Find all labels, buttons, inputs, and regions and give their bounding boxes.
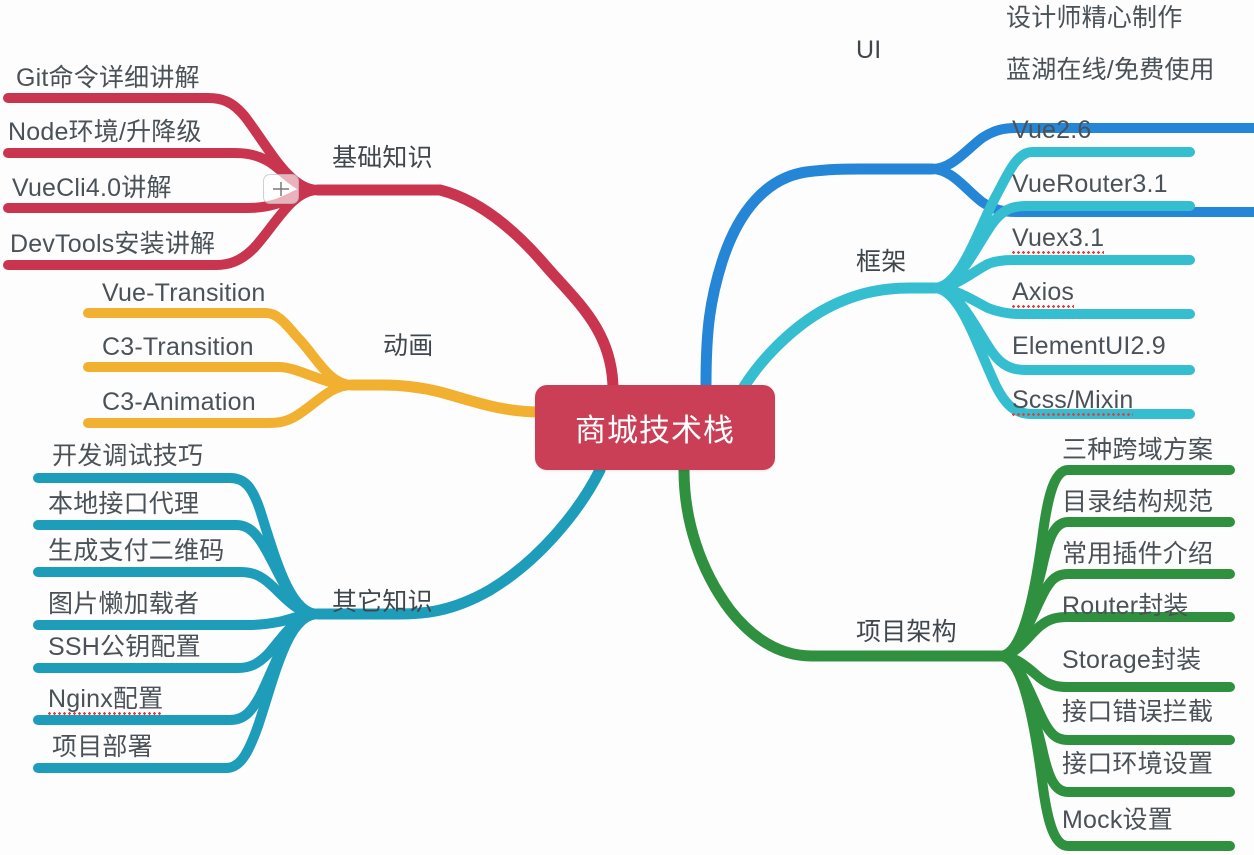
leaf-label-animation-2[interactable]: C3-Animation <box>102 390 256 415</box>
branch-label-basics[interactable]: 基础知识 <box>332 146 433 171</box>
leaf-label-other-0[interactable]: 开发调试技巧 <box>52 444 203 469</box>
leaf-label-architecture-3[interactable]: Router封装 <box>1062 594 1189 619</box>
leaf-label-framework-3[interactable]: Axios <box>1012 280 1074 308</box>
leaf-label-other-6[interactable]: 项目部署 <box>52 735 153 760</box>
leaf-label-architecture-1[interactable]: 目录结构规范 <box>1062 490 1213 515</box>
root-node-label: 商城技术栈 <box>575 405 735 450</box>
leaf-label-animation-1[interactable]: C3-Transition <box>102 335 254 360</box>
branch-label-animation[interactable]: 动画 <box>383 334 433 359</box>
branch-label-architecture[interactable]: 项目架构 <box>856 620 957 645</box>
leaf-label-basics-2[interactable]: VueCli4.0讲解 <box>12 176 172 201</box>
leaf-label-architecture-7[interactable]: Mock设置 <box>1062 808 1173 833</box>
expand-collapse-plus-icon[interactable] <box>263 174 299 204</box>
branch-label-other[interactable]: 其它知识 <box>332 590 433 615</box>
leaf-label-basics-3[interactable]: DevTools安装讲解 <box>10 232 215 257</box>
root-node[interactable]: 商城技术栈 <box>535 385 775 470</box>
leaf-label-architecture-4[interactable]: Storage封装 <box>1062 648 1201 673</box>
leaf-label-architecture-0[interactable]: 三种跨域方案 <box>1062 438 1213 463</box>
leaf-label-other-3[interactable]: 图片懒加载者 <box>48 592 199 617</box>
leaf-wires-other <box>38 478 318 768</box>
leaf-label-other-5[interactable]: Nginx配置 <box>48 687 163 715</box>
leaf-label-other-1[interactable]: 本地接口代理 <box>48 492 199 517</box>
leaf-label-framework-0[interactable]: Vue2.6 <box>1012 118 1092 143</box>
leaf-label-ui-1[interactable]: 蓝湖在线/免费使用 <box>1006 58 1215 83</box>
leaf-label-basics-0[interactable]: Git命令详细讲解 <box>16 66 200 91</box>
leaf-label-other-4[interactable]: SSH公钥配置 <box>48 635 201 660</box>
branch-label-ui[interactable]: UI <box>856 38 881 63</box>
leaf-label-architecture-5[interactable]: 接口错误拦截 <box>1062 700 1213 725</box>
leaf-label-basics-1[interactable]: Node环境/升降级 <box>8 120 202 145</box>
leaf-label-other-2[interactable]: 生成支付二维码 <box>48 539 224 564</box>
leaf-label-framework-1[interactable]: VueRouter3.1 <box>1012 172 1168 197</box>
leaf-label-framework-2[interactable]: Vuex3.1 <box>1012 226 1104 254</box>
branch-wires-ui <box>706 169 932 385</box>
leaf-label-animation-0[interactable]: Vue-Transition <box>102 281 266 306</box>
branch-label-framework[interactable]: 框架 <box>856 250 906 275</box>
mindmap-canvas: 商城技术栈 基础知识 动画 其它知识 UI 框架 项目架构 Git命令详细讲解 … <box>0 0 1254 855</box>
branch-wires-animation <box>352 385 540 412</box>
leaf-label-framework-5[interactable]: Scss/Mixin <box>1012 388 1133 416</box>
branch-wires-framework <box>742 288 934 390</box>
leaf-label-ui-0[interactable]: 设计师精心制作 <box>1006 6 1182 31</box>
branch-wires-basics <box>318 190 613 390</box>
leaf-label-architecture-6[interactable]: 接口环境设置 <box>1062 752 1213 777</box>
leaf-label-framework-4[interactable]: ElementUI2.9 <box>1012 334 1166 359</box>
leaf-label-architecture-2[interactable]: 常用插件介绍 <box>1062 542 1213 567</box>
